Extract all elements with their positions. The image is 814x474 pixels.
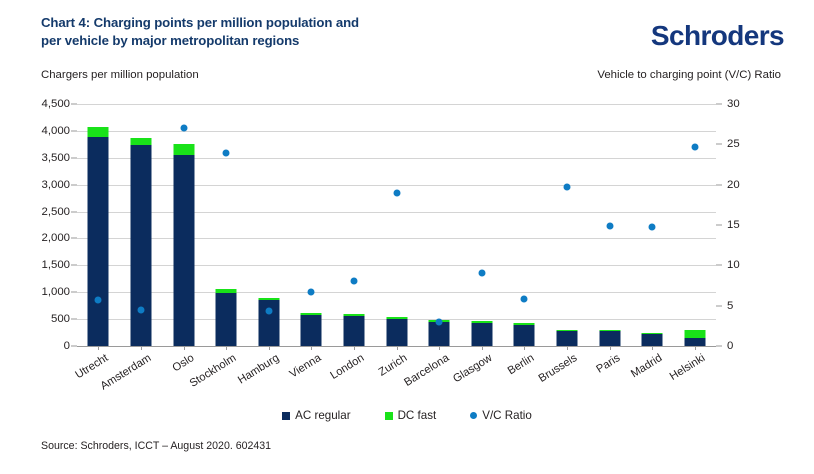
x-axis-tick-mark [610,346,611,350]
legend-item[interactable]: DC fast [385,409,437,422]
legend-square-icon [282,412,290,420]
x-axis-category-label: Vienna [288,352,324,381]
x-axis-tick-mark [269,346,270,350]
y-axis-left-tick-label: 2,500 [41,206,70,218]
y-axis-right-tick-mark [716,346,722,347]
x-axis-tick-mark [567,346,568,350]
y-axis-left-tick-label: 2,000 [41,232,70,244]
x-axis-tick-mark [695,346,696,350]
x-axis-category-label: Glasgow [451,352,494,385]
x-axis-category-label: Oslo [170,352,196,374]
y-axis-right-tick-label: 0 [727,340,733,352]
y-axis-right-tick-label: 15 [727,219,740,231]
y-axis-right-tick-label: 20 [727,179,740,191]
y-axis-right-tick-mark [716,144,722,145]
x-axis-tick-mark [652,346,653,350]
y-axis-left-tick-label: 1,000 [41,286,70,298]
x-axis-categories: UtrechtAmsterdamOsloStockholmHamburgVien… [77,104,716,346]
x-axis-tick-mark [184,346,185,350]
legend-label: DC fast [398,409,437,422]
y-axis-left-tick-label: 1,500 [41,259,70,271]
y-axis-left-tick-label: 3,000 [41,179,70,191]
y-axis-right-tick-mark [716,184,722,185]
x-axis-category-label: Zurich [376,352,409,379]
y-axis-right-tick-mark [716,104,722,105]
x-axis-category-label: Stockholm [188,352,239,390]
y-axis-left-tick-label: 4,000 [41,125,70,137]
y-axis-left-tick-label: 0 [64,340,70,352]
x-axis-category-label: Paris [594,352,622,376]
y-axis-right-tick-label: 10 [727,259,740,271]
page-title: Chart 4: Charging points per million pop… [41,14,471,49]
plot-area: 05001,0001,5002,0002,5003,0003,5004,0004… [77,104,716,346]
x-axis-category-label: Barcelona [402,352,451,389]
legend-label: AC regular [295,409,350,422]
y-axis-right-tick-mark [716,265,722,266]
x-axis-tick-mark [524,346,525,350]
x-axis-category-label: Berlin [506,352,537,377]
schroders-logo: Schroders [651,20,784,52]
y-axis-right-tick-mark [716,305,722,306]
x-axis-tick-mark [482,346,483,350]
x-axis-tick-mark [226,346,227,350]
y-axis-right-tick-label: 5 [727,300,733,312]
x-axis-category-label: Hamburg [236,352,281,387]
legend-label: V/C Ratio [482,409,532,422]
x-axis-tick-mark [98,346,99,350]
y-axis-left-tick-label: 3,500 [41,152,70,164]
x-axis-category-label: Madrid [629,352,664,380]
y-axis-right-tick-label: 25 [727,138,740,150]
legend-item[interactable]: V/C Ratio [470,409,532,422]
x-axis-tick-mark [311,346,312,350]
y-axis-left-tick-label: 4,500 [41,98,70,110]
y-axis-right-tick-label: 30 [727,98,740,110]
source-note: Source: Schroders, ICCT – August 2020. 6… [41,440,271,452]
legend-item[interactable]: AC regular [282,409,350,422]
y-axis-right-tick-mark [716,225,722,226]
y-axis-left-tick-label: 500 [51,313,70,325]
legend-dot-icon [470,412,477,419]
chart-header: Chart 4: Charging points per million pop… [41,14,784,62]
x-axis-category-label: Brussels [537,352,580,385]
x-axis-category-label: Helsinki [667,352,707,383]
x-axis-tick-mark [354,346,355,350]
right-axis-caption: Vehicle to charging point (V/C) Ratio [597,69,781,81]
x-axis-tick-mark [141,346,142,350]
legend-square-icon [385,412,393,420]
x-axis-tick-mark [397,346,398,350]
x-axis-tick-mark [439,346,440,350]
chart-legend: AC regularDC fastV/C Ratio [0,409,814,422]
x-axis-category-label: London [328,352,366,382]
left-axis-caption: Chargers per million population [41,69,199,81]
